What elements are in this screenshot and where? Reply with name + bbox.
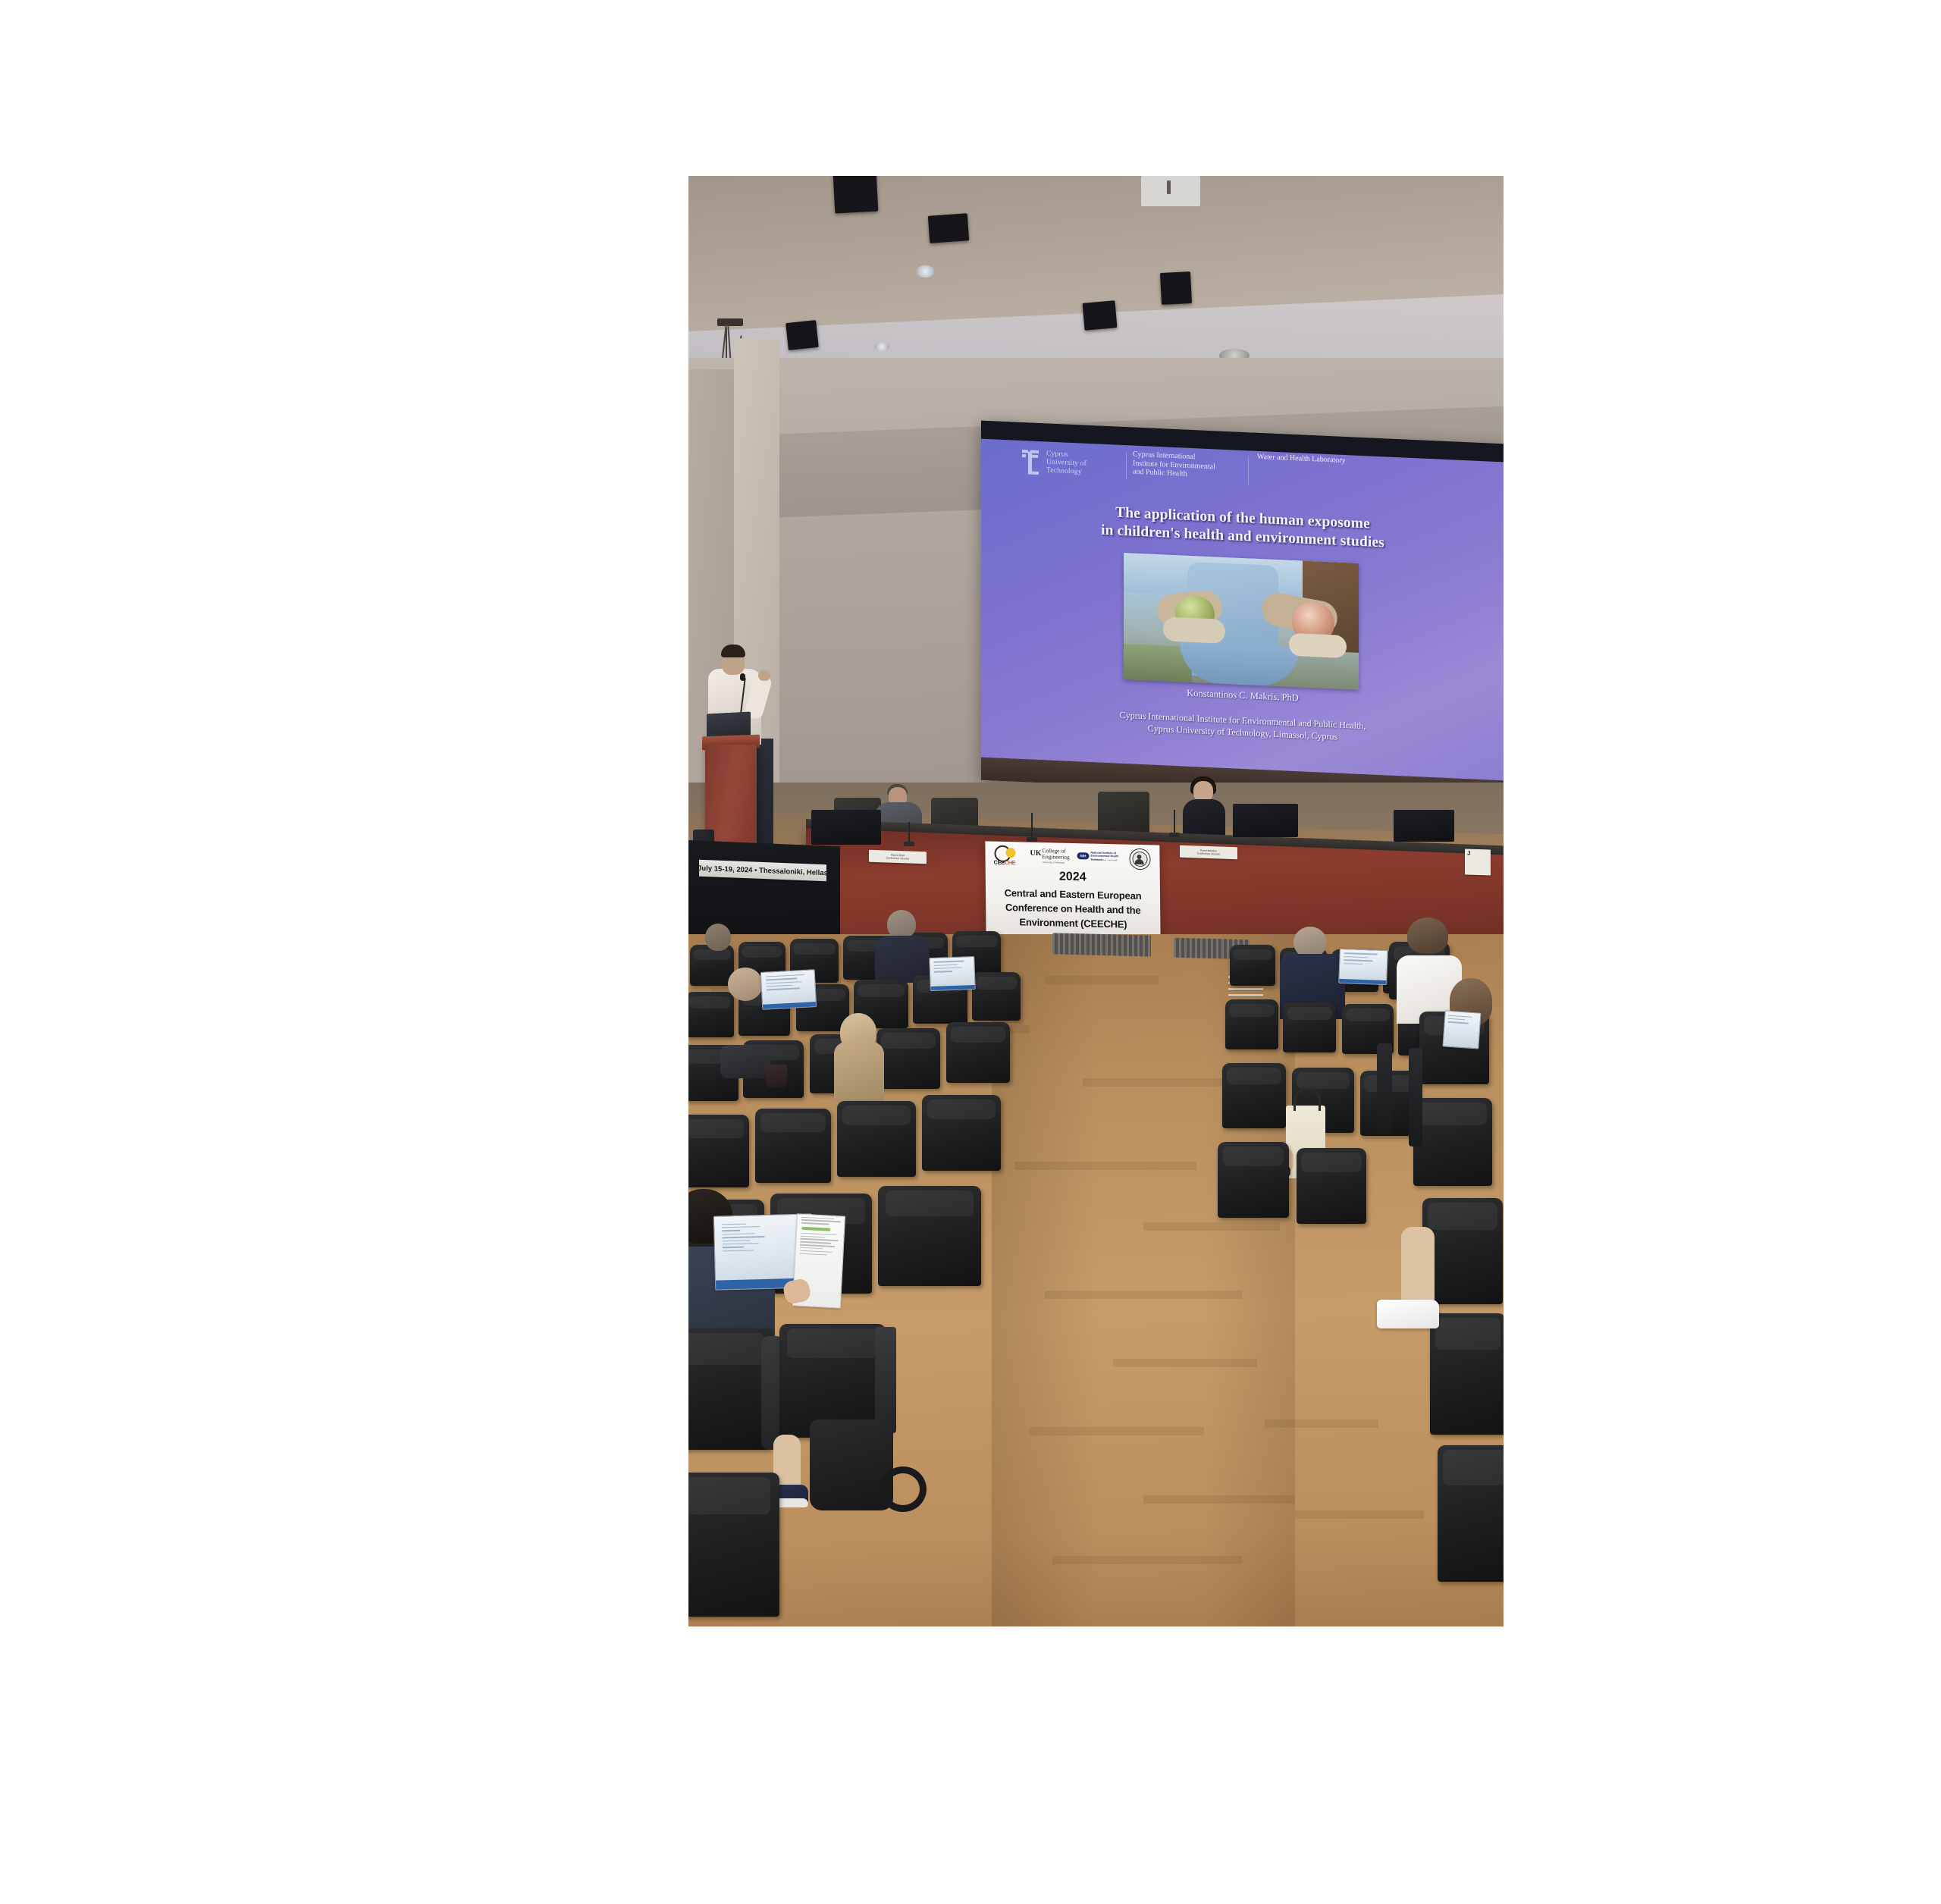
seat-backpack [720, 1045, 770, 1078]
downlight-icon [874, 343, 889, 351]
right-seating-block [1228, 957, 1504, 1626]
presenter-hair [721, 645, 745, 657]
table-microphone-icon [908, 822, 910, 843]
left-seating-block [688, 949, 1014, 1626]
auditorium-seat[interactable] [688, 1115, 749, 1187]
ceiling-speaker-icon [1160, 271, 1192, 305]
auditorium-seat[interactable] [876, 1028, 940, 1089]
slide-photo-apples [1124, 553, 1359, 690]
banner-logo-row: CEECHE UK College of Engineering Univers… [985, 844, 1159, 870]
conference-photograph: Cyprus University of Technology Cyprus I… [688, 176, 1504, 1626]
audience-laptop[interactable] [1338, 949, 1388, 985]
banner-year: 2024 [986, 868, 1160, 886]
university-seal-logo-icon [1128, 848, 1151, 870]
projection-screen: Cyprus University of Technology Cyprus I… [981, 421, 1504, 804]
auditorium-seat[interactable] [1225, 999, 1278, 1049]
panel-monitor [811, 810, 881, 845]
uk-college-of-engineering-logo-icon: UK College of Engineering University of … [1030, 848, 1072, 867]
floor-vent-grille [1052, 933, 1151, 956]
audience-person-hair [834, 1042, 884, 1103]
audience-laptop[interactable] [760, 969, 817, 1010]
microphone-base [904, 842, 914, 846]
water-bottle [766, 1065, 787, 1087]
auditorium-seat[interactable] [688, 992, 734, 1037]
seat-armrest [875, 1327, 896, 1433]
auditorium-seat[interactable] [878, 1186, 981, 1286]
audience-person-head [1407, 917, 1448, 954]
slide-affiliation: Cyprus International Institute for Envir… [981, 703, 1504, 751]
auditorium-seat[interactable] [1297, 1148, 1366, 1224]
ceeche-conference-banner: CEECHE UK College of Engineering Univers… [985, 841, 1160, 943]
downlight-icon [916, 265, 935, 278]
page-canvas: Cyprus University of Technology Cyprus I… [0, 0, 1941, 1904]
slide-header-divider [1126, 452, 1127, 479]
auditorium-seat[interactable] [1218, 1142, 1289, 1218]
panel-monitor [1233, 804, 1298, 837]
slide-institute-name: Cyprus International Institute for Envir… [1133, 450, 1246, 481]
panel-chair [1098, 792, 1149, 834]
ceiling-speaker-icon [833, 176, 879, 213]
presenter-hand [758, 670, 770, 681]
panelist-nameplate-right: Panel Member Conference Session [1180, 845, 1237, 860]
auditorium-seat[interactable] [1283, 1002, 1336, 1052]
table-microphone-icon [1031, 813, 1033, 839]
panel-monitor [1394, 810, 1454, 842]
audience-person-head [728, 968, 763, 1001]
slide-header-divider [1248, 457, 1249, 485]
auditorium-seat[interactable] [690, 945, 734, 986]
ceiling-speaker-icon [928, 213, 969, 243]
seat-leg [1409, 1048, 1422, 1146]
auditorium-seat[interactable] [1222, 1063, 1286, 1128]
slide-university-name: Cyprus University of Technology [1046, 450, 1122, 478]
tote-bag-strap [1293, 1087, 1321, 1111]
auditorium-seat[interactable] [922, 1095, 1001, 1171]
auditorium-seat[interactable] [688, 1473, 779, 1617]
panelist-nameplate-left: Panel Chair Conference Session [869, 850, 927, 864]
rigging-plate [717, 318, 743, 326]
ceiling-access-panel [1141, 176, 1200, 206]
audience-person-head [887, 910, 916, 939]
ceeche-logo-icon: CEECHE [993, 845, 1025, 867]
audience-laptop[interactable] [929, 956, 975, 991]
backpack-strap [880, 1466, 927, 1512]
auditorium-seat[interactable] [1438, 1445, 1504, 1582]
table-microphone-icon [1174, 810, 1175, 834]
audience-laptop[interactable] [1442, 1010, 1481, 1049]
auditorium-seat[interactable] [1413, 1098, 1492, 1186]
auditorium-seat[interactable] [688, 1328, 772, 1450]
presentation-slide: Cyprus University of Technology Cyprus I… [981, 439, 1504, 781]
white-sneaker [1377, 1300, 1439, 1328]
microphone-base [1169, 833, 1180, 837]
auditorium-seat[interactable] [1430, 1313, 1504, 1435]
auditorium-seat[interactable] [972, 972, 1021, 1021]
edge-nameplate: J [1465, 848, 1491, 875]
niehs-logo-icon: NIH National Institute of Environmental … [1077, 849, 1124, 867]
cyprus-university-of-technology-logo-icon [1021, 450, 1040, 476]
ceiling-speaker-icon [785, 320, 819, 350]
auditorium-seat[interactable] [837, 1101, 916, 1177]
audience-person-leg [1401, 1227, 1435, 1310]
slide-title: The application of the human exposome in… [981, 498, 1504, 558]
projection-screen-surface: Cyprus University of Technology Cyprus I… [981, 421, 1504, 804]
ceiling-speaker-icon [1083, 300, 1118, 331]
auditorium-seat[interactable] [755, 1109, 831, 1183]
seat-leg [1377, 1043, 1392, 1134]
microphone-base [1027, 837, 1037, 842]
auditorium-seat[interactable] [1230, 945, 1275, 986]
banner-title: Central and Eastern European Conference … [986, 885, 1161, 932]
audience-person-head [705, 924, 731, 951]
auditorium-seat[interactable] [946, 1022, 1010, 1083]
podium-microphone-head [740, 673, 745, 681]
